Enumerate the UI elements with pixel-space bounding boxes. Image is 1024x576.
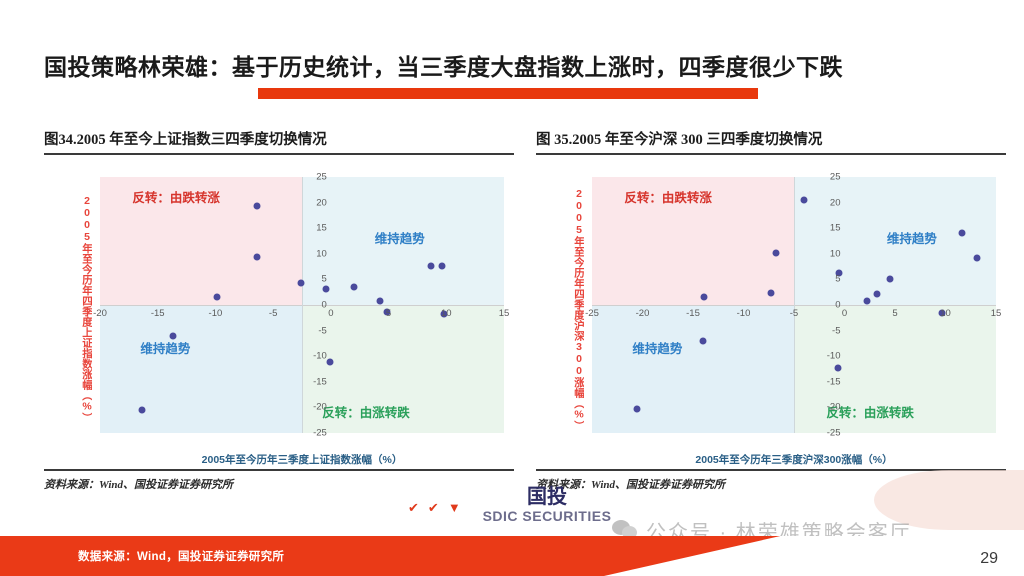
y-axis-tick-label: -5 (305, 325, 327, 336)
figure-34-title-rule (44, 153, 514, 155)
figure-34-title: 图34.2005 年至今上证指数三四季度切换情况 (44, 128, 514, 153)
quadrant-label-reversal-up: 反转：由跌转涨 (624, 187, 712, 206)
data-point (772, 249, 779, 256)
data-point (700, 338, 707, 345)
data-point (701, 293, 708, 300)
quadrant-label-reversal-down: 反转：由涨转跌 (322, 402, 410, 421)
y-axis-tick-label: -10 (819, 351, 841, 362)
figure-34-source: 资料来源：Wind、国投证券证券研究所 (44, 471, 514, 492)
y-axis-tick-label: 20 (819, 197, 841, 208)
footer-source-note: 数据来源：Wind，国投证券证券研究所 (78, 548, 284, 564)
data-point (297, 279, 304, 286)
figure-35-chart: 2005年至今历年四季度沪深300涨幅（%） 反转：由跌转涨 维持趋势 维持趋势… (536, 169, 1006, 469)
x-axis-tick-label: -15 (686, 308, 700, 319)
headline-accent-bar (258, 88, 758, 99)
data-point (428, 263, 435, 270)
data-point (377, 298, 384, 305)
x-axis-tick-label: -20 (636, 308, 650, 319)
data-point (169, 332, 176, 339)
data-point (438, 263, 445, 270)
figure-35-title: 图 35.2005 年至今沪深 300 三四季度切换情况 (536, 128, 1006, 153)
data-point (863, 297, 870, 304)
y-axis-tick-label: -25 (819, 428, 841, 439)
x-axis-tick-label: 15 (991, 308, 1002, 319)
sdic-logo-mark: 国投 (452, 486, 642, 506)
x-axis-tick-label: -25 (585, 308, 599, 319)
x-axis-tick-label: -15 (151, 308, 165, 319)
x-axis-tick-label: 15 (499, 308, 510, 319)
data-point (973, 254, 980, 261)
page-title: 国投策略林荣雄：基于历史统计，当三季度大盘指数上涨时，四季度很少下跌 (44, 48, 984, 82)
footer-wedge (604, 536, 1024, 576)
y-axis-tick-label: 25 (305, 172, 327, 183)
quadrant-label-trend-up: 维持趋势 (375, 228, 425, 247)
data-point (835, 365, 842, 372)
quadrant-label-reversal-up: 反转：由跌转涨 (132, 187, 220, 206)
figure-35-plot-area: 反转：由跌转涨 维持趋势 维持趋势 反转：由涨转跌 -25-20-15-10-5… (592, 177, 996, 433)
data-point (350, 283, 357, 290)
data-point (138, 407, 145, 414)
figure-34: 图34.2005 年至今上证指数三四季度切换情况 2005年至今历年四季度上证指… (44, 128, 514, 492)
figure-35-y-axis-title: 2005年至今历年四季度沪深300涨幅（%） (554, 179, 584, 439)
x-axis-tick-label: 0 (328, 308, 333, 319)
x-axis-tick-label: 0 (842, 308, 847, 319)
y-axis-tick-label: -15 (819, 376, 841, 387)
y-axis-line (302, 177, 303, 433)
quadrant-label-trend-down: 维持趋势 (632, 338, 682, 357)
y-axis-tick-label: 0 (819, 300, 841, 311)
x-axis-tick-label: -5 (269, 308, 277, 319)
data-point (323, 285, 330, 292)
figure-34-y-axis-title: 2005年至今历年四季度上证指数涨幅（%） (62, 179, 92, 439)
y-axis-tick-label: 25 (819, 172, 841, 183)
data-point (213, 293, 220, 300)
quadrant-label-trend-up: 维持趋势 (887, 228, 937, 247)
y-axis-tick-label: 10 (819, 248, 841, 259)
data-point (634, 406, 641, 413)
y-axis-tick-label: 15 (305, 223, 327, 234)
x-axis-tick-label: -10 (737, 308, 751, 319)
figure-35-title-rule (536, 153, 1006, 155)
x-axis-tick-label: -20 (93, 308, 107, 319)
y-axis-tick-label: 10 (305, 248, 327, 259)
figure-35-x-axis-title: 2005年至今历年三季度沪深300涨幅（%） (592, 452, 996, 467)
y-axis-tick-label: -25 (305, 428, 327, 439)
quadrant-bottom-left (100, 305, 302, 433)
x-axis-tick-label: 10 (441, 308, 452, 319)
figure-35: 图 35.2005 年至今沪深 300 三四季度切换情况 2005年至今历年四季… (536, 128, 1006, 492)
y-axis-tick-label: 0 (305, 300, 327, 311)
data-point (958, 230, 965, 237)
page-number: 29 (980, 550, 998, 568)
data-point (873, 291, 880, 298)
figure-34-plot-area: 反转：由跌转涨 维持趋势 维持趋势 反转：由涨转跌 -20-15-10-5051… (100, 177, 504, 433)
y-axis-tick-label: 5 (305, 274, 327, 285)
data-point (801, 196, 808, 203)
data-point (767, 290, 774, 297)
y-axis-tick-label: -10 (305, 351, 327, 362)
y-axis-tick-label: -20 (305, 402, 327, 413)
decorative-blob (874, 470, 1024, 530)
tick-glyph-2: ✔ (428, 500, 439, 516)
y-axis-tick-label: 20 (305, 197, 327, 208)
y-axis-tick-label: 15 (819, 223, 841, 234)
tick-glyph-1: ✔ (408, 500, 419, 516)
y-axis-tick-label: 5 (819, 274, 841, 285)
sdic-logo-name: SDIC SECURITIES (452, 508, 642, 524)
x-axis-tick-label: 10 (940, 308, 951, 319)
x-axis-tick-label: 5 (892, 308, 897, 319)
quadrant-label-trend-down: 维持趋势 (140, 338, 190, 357)
quadrant-bottom-left (592, 305, 794, 433)
sdic-logo: 国投 SDIC SECURITIES (452, 486, 642, 524)
data-point (886, 276, 893, 283)
x-axis-tick-label: -5 (790, 308, 798, 319)
y-axis-tick-label: -20 (819, 402, 841, 413)
x-axis-tick-label: -10 (209, 308, 223, 319)
x-axis-tick-label: 5 (386, 308, 391, 319)
figure-34-x-axis-title: 2005年至今历年三季度上证指数涨幅（%） (100, 452, 504, 467)
data-point (253, 254, 260, 261)
data-point (326, 359, 333, 366)
y-axis-tick-label: -15 (305, 376, 327, 387)
figure-34-chart: 2005年至今历年四季度上证指数涨幅（%） 反转：由跌转涨 维持趋势 维持趋势 … (44, 169, 514, 469)
data-point (253, 203, 260, 210)
y-axis-tick-label: -5 (819, 325, 841, 336)
y-axis-line (794, 177, 795, 433)
slide-root: 国投策略林荣雄：基于历史统计，当三季度大盘指数上涨时，四季度很少下跌 图34.2… (0, 0, 1024, 576)
